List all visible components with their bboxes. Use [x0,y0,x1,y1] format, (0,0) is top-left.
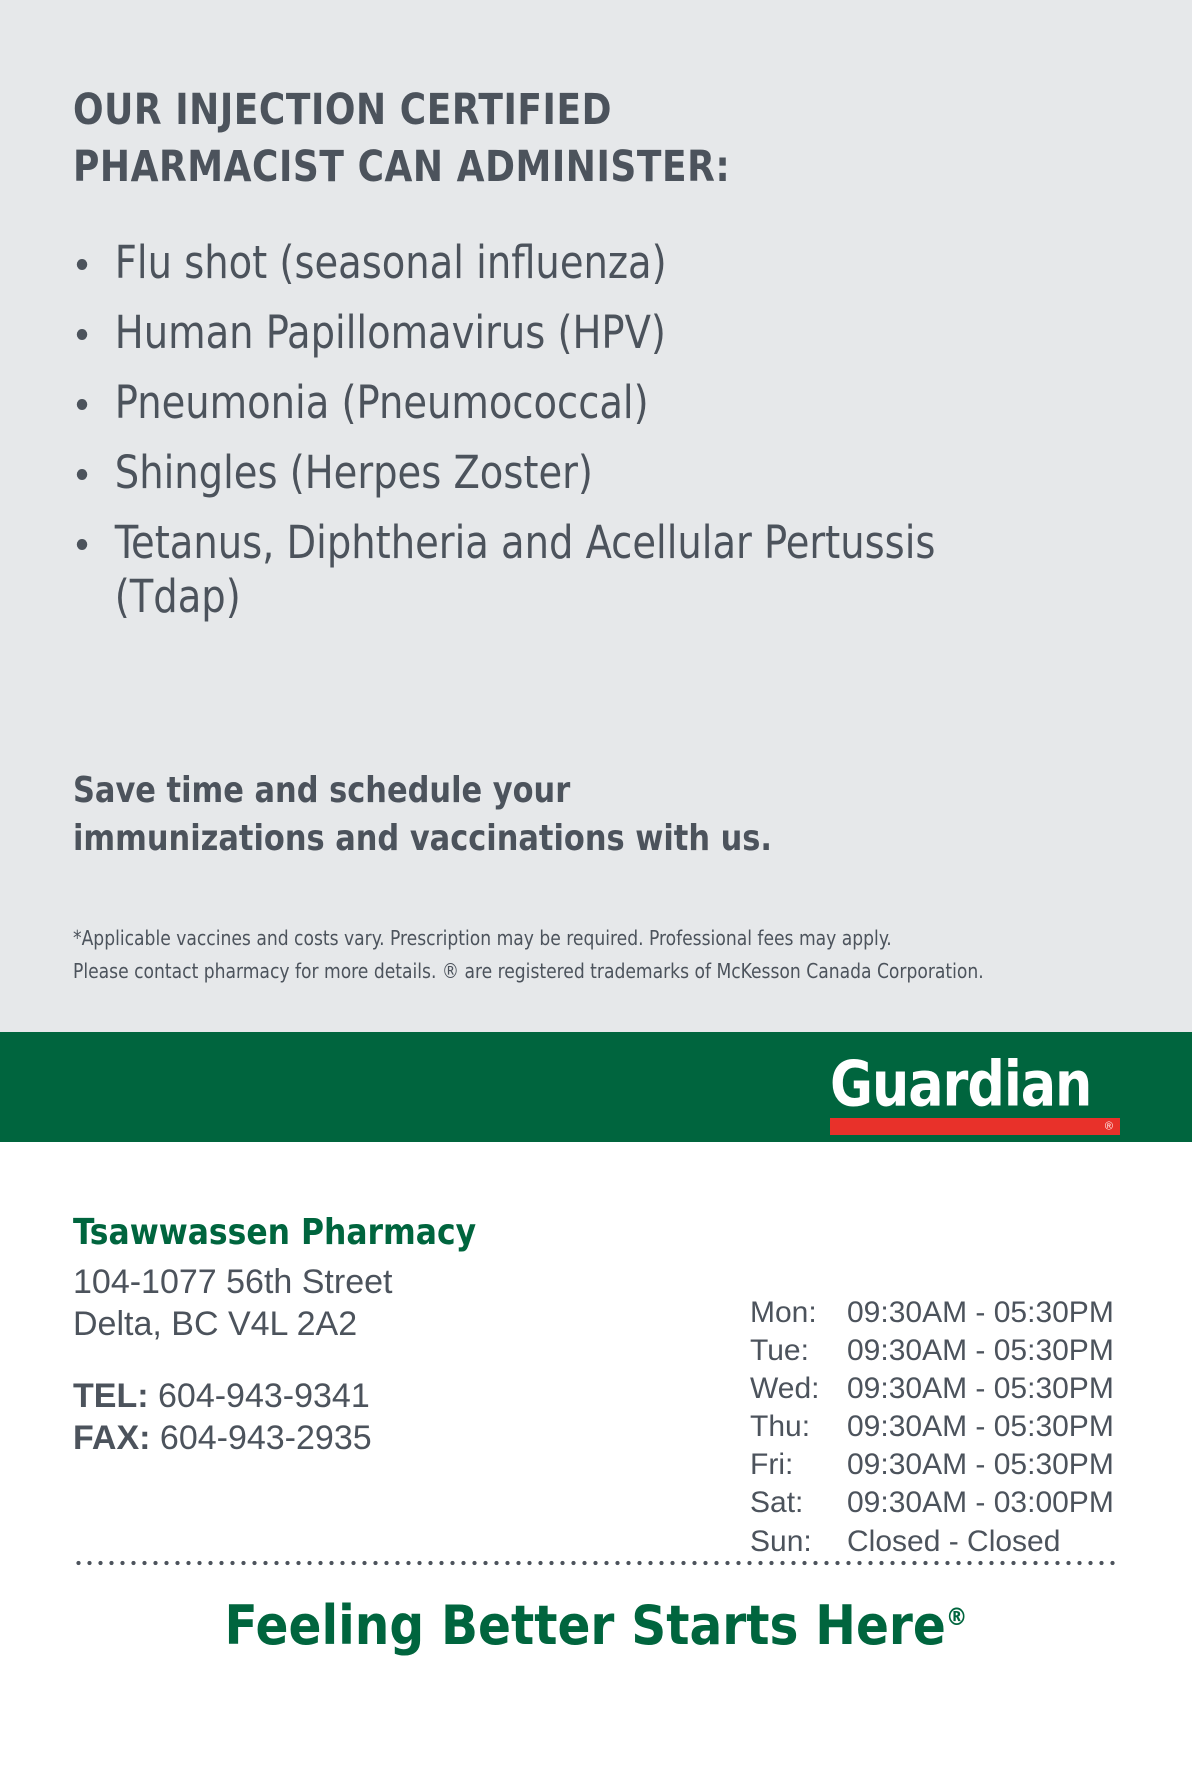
page-title-line-2: PHARMACIST CAN ADMINISTER: [73,139,966,196]
hours-time-value: 09:30AM - 05:30PM [847,1370,1114,1408]
disclaimer-line-2: Please contact pharmacy for more details… [73,955,1059,988]
telephone-value[interactable]: 604-943-9341 [158,1377,370,1415]
logo-underline-bar: ® [830,1118,1120,1135]
hours-time-value: 09:30AM - 05:30PM [847,1408,1114,1446]
dotted-divider [73,1559,1119,1567]
list-item: Tetanus, Diphtheria and Acellular Pertus… [73,516,1033,626]
list-item-label: Pneumonia (Pneumococcal) [115,376,649,429]
list-item-label: Shingles (Herpes Zoster) [115,446,593,499]
telephone-label: TEL: [73,1377,149,1415]
table-row: Fri: 09:30AM - 05:30PM [750,1446,1114,1484]
list-item-label: Flu shot (seasonal influenza) [115,236,667,289]
list-item: Flu shot (seasonal influenza) [73,236,1033,291]
list-item-label: Human Papillomavirus (HPV) [115,306,666,359]
store-footer: Tsawwassen Pharmacy 104-1077 56th Street… [0,1142,1192,1785]
list-item: Human Papillomavirus (HPV) [73,306,1033,361]
store-hours-table: Mon: 09:30AM - 05:30PM Tue: 09:30AM - 05… [750,1294,1114,1561]
bullet-icon [77,399,87,410]
pharmacy-immunization-poster: OUR INJECTION CERTIFIED PHARMACIST CAN A… [0,0,1192,1785]
hours-time-value: 09:30AM - 05:30PM [847,1446,1114,1484]
fax-row: FAX: 604-943-2935 [73,1417,673,1459]
telephone-row: TEL: 604-943-9341 [73,1375,673,1417]
page-title-line-1: OUR INJECTION CERTIFIED [73,82,966,139]
services-panel: OUR INJECTION CERTIFIED PHARMACIST CAN A… [0,0,1192,1032]
store-address-line-2: Delta, BC V4L 2A2 [73,1303,673,1345]
store-details: Tsawwassen Pharmacy 104-1077 56th Street… [73,1210,673,1460]
fax-label: FAX: [73,1419,150,1457]
table-row: Mon: 09:30AM - 05:30PM [750,1294,1114,1332]
hours-day-label: Tue: [750,1332,847,1370]
table-row: Sat: 09:30AM - 03:00PM [750,1484,1114,1522]
table-row: Tue: 09:30AM - 05:30PM [750,1332,1114,1370]
brand-tagline: Feeling Better Starts Here® [0,1594,1192,1659]
vaccine-list: Flu shot (seasonal influenza) Human Papi… [73,236,1083,640]
disclaimer-text: *Applicable vaccines and costs vary. Pre… [73,922,1059,988]
bullet-icon [77,469,87,480]
hours-day-label: Fri: [750,1446,847,1484]
hours-day-label: Sat: [750,1484,847,1522]
registered-trademark-icon: ® [946,1603,968,1631]
bullet-icon [77,539,87,550]
guardian-logo: Guardian ® [830,1053,1120,1135]
hours-time-value: 09:30AM - 03:00PM [847,1484,1114,1522]
table-row: Wed: 09:30AM - 05:30PM [750,1370,1114,1408]
hours-day-label: Mon: [750,1294,847,1332]
registered-trademark-icon: ® [1105,1121,1113,1132]
hours-day-label: Wed: [750,1370,847,1408]
hours-day-label: Thu: [750,1408,847,1446]
table-row: Thu: 09:30AM - 05:30PM [750,1408,1114,1446]
promo-message: Save time and schedule your immunization… [73,767,806,863]
promo-line-2: immunizations and vaccinations with us. [73,815,806,863]
list-item: Pneumonia (Pneumococcal) [73,376,1033,431]
hours-time-value: 09:30AM - 05:30PM [847,1332,1114,1370]
fax-value[interactable]: 604-943-2935 [160,1419,372,1457]
page-title: OUR INJECTION CERTIFIED PHARMACIST CAN A… [73,82,966,196]
promo-line-1: Save time and schedule your [73,767,806,815]
guardian-wordmark: Guardian [830,1053,1132,1119]
brand-tagline-text: Feeling Better Starts Here [225,1594,946,1657]
list-item-label: Tetanus, Diphtheria and Acellular Pertus… [115,516,936,624]
hours-day-label: Sun: [750,1523,847,1561]
store-contact: TEL: 604-943-9341 FAX: 604-943-2935 [73,1375,673,1459]
bullet-icon [77,329,87,340]
list-item: Shingles (Herpes Zoster) [73,446,1033,501]
brand-banner: Guardian ® [0,1032,1192,1142]
store-address-line-1: 104-1077 56th Street [73,1261,673,1303]
bullet-icon [77,259,87,270]
table-row: Sun: Closed - Closed [750,1523,1114,1561]
hours-time-value: Closed - Closed [847,1523,1060,1561]
store-name: Tsawwassen Pharmacy [73,1210,655,1255]
hours-time-value: 09:30AM - 05:30PM [847,1294,1114,1332]
disclaimer-line-1: *Applicable vaccines and costs vary. Pre… [73,922,1059,955]
